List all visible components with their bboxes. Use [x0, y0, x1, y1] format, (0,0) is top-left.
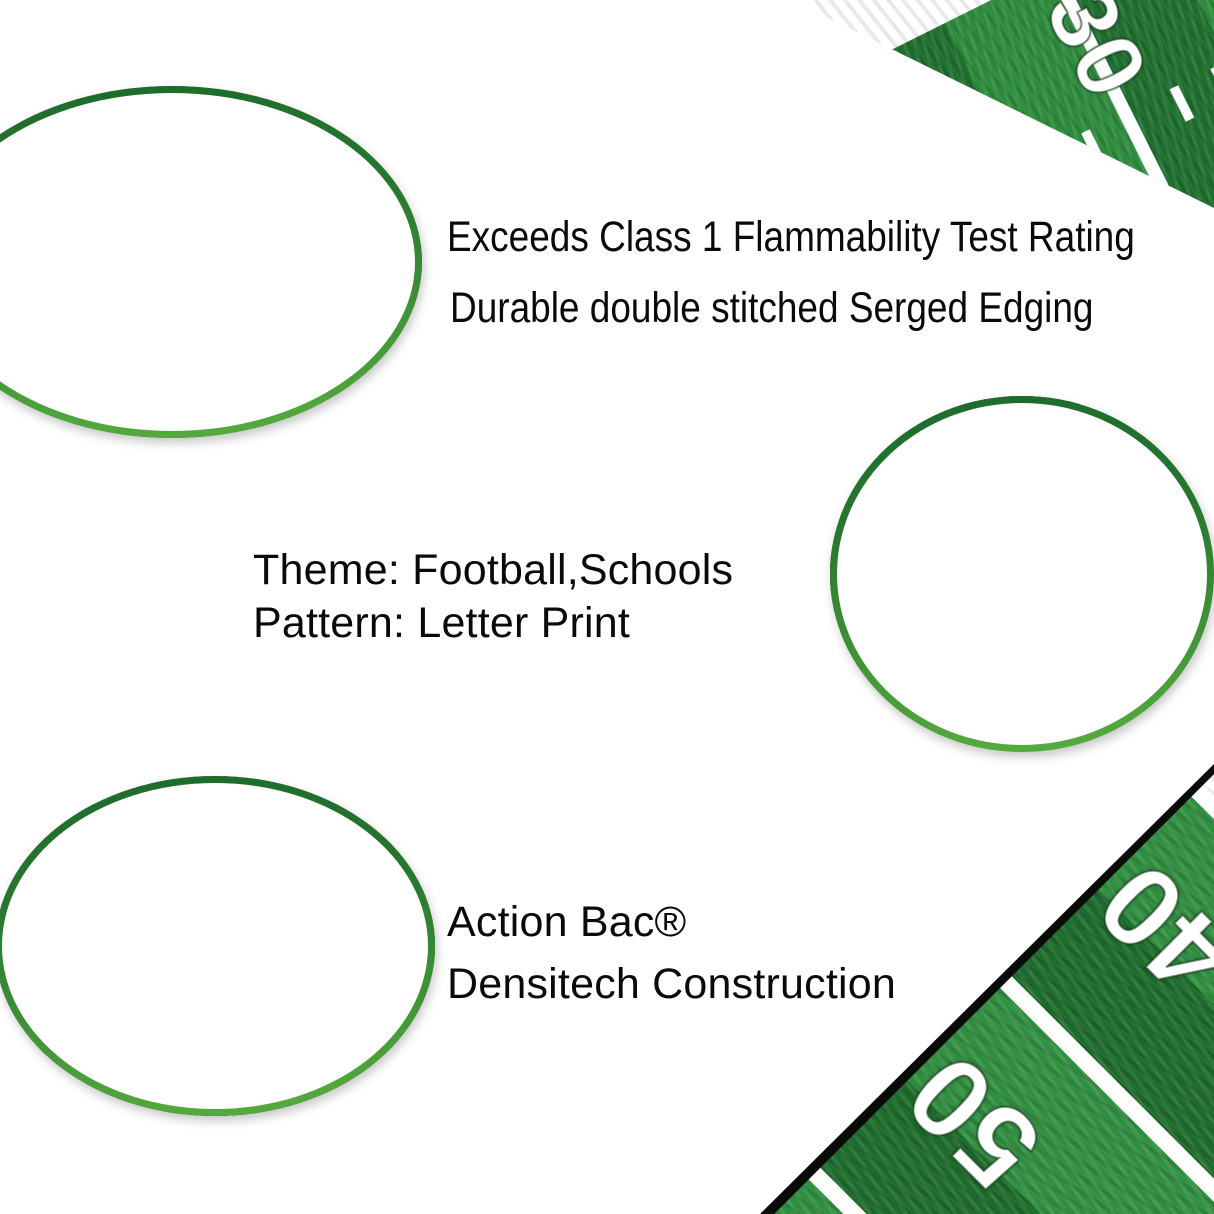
feature-text-action-bac: Action Bac®: [447, 901, 686, 944]
fire-test-block: Fire Test Report provided by Testing Ser…: [83, 856, 284, 917]
test-column: Test Method: ASTM E648 Standard Test Met…: [85, 884, 205, 916]
fire-test-table-body: Test Method: ASTM E648 Standard Test Met…: [85, 883, 284, 917]
feature-text-densitech: Densitech Construction: [447, 963, 896, 1006]
yard-number: 30: [1024, 0, 1171, 116]
yard-number: 30: [0, 142, 10, 202]
yard-number: 50: [94, 142, 154, 202]
tagline-bold-1: BOLD: [142, 829, 163, 837]
yard-number: 40: [22, 142, 82, 202]
yard-number: 50: [744, 179, 749, 210]
endzone-text: TOWN: [1022, 396, 1073, 626]
rug-black-edge: 20 10 TOWN: [830, 396, 1080, 670]
label-footer: www.KidCarpet.com © Kid Carpet.com All r…: [85, 939, 285, 956]
photo-rug-backing-label: kid CARPET BOLD and IMAGINATIVE carpets …: [0, 776, 435, 1116]
label-tagline: BOLD and IMAGINATIVE carpets your KIDS w…: [130, 827, 277, 850]
tagline-bold-2: IMAGINATIVE: [176, 828, 227, 837]
field-turf: 50 40 30: [744, 0, 1214, 210]
rug-face: 20 10 TOWN: [830, 396, 1073, 663]
copyright-notice: © Kid Carpet.com All rights reserved.: [182, 945, 265, 953]
tagline-end-1: carpets your: [227, 827, 264, 836]
kid-carpet-logo: kid CARPET: [89, 826, 126, 854]
tagline-bold-3: KIDS: [164, 839, 182, 847]
care-label: kid CARPET BOLD and IMAGINATIVE carpets …: [77, 814, 290, 972]
photo-football-field-closeup: 30 40 50 40 30: [0, 86, 422, 438]
website-url: www.KidCarpet.com: [91, 943, 172, 955]
yard-number: 40: [166, 142, 226, 202]
field-turf: 30 40 50 40 30: [0, 86, 422, 438]
logo-subtext: CARPET: [96, 843, 117, 848]
label-header: kid CARPET BOLD and IMAGINATIVE carpets …: [83, 819, 284, 858]
tagline-mid-1: and: [162, 829, 176, 837]
yard-number: 40: [1070, 836, 1214, 1024]
yard-number: 10: [846, 506, 894, 554]
infographic-canvas: 50 40 30: [0, 0, 1214, 1214]
field-corner-top-right: 50 40 30: [744, 0, 1214, 210]
logo-wordmark: kid: [99, 832, 115, 843]
result-line-3: Coefficient of Variation: 4.22%: [207, 901, 281, 907]
results-column: Meets or exceeds Class 1 rating Average …: [205, 883, 284, 914]
feature-text-serged-edging: Durable double stitched Serged Edging: [450, 287, 1093, 330]
feature-text-flammability: Exceeds Class 1 Flammability Test Rating: [447, 216, 1135, 259]
yard-number: 40: [813, 74, 960, 210]
feature-text-theme: Theme: Football,Schools: [253, 549, 733, 592]
photo-rug-corner-endzone: 20 10 TOWN: [830, 396, 1214, 752]
yard-number: 50: [879, 1027, 1067, 1214]
tagline-end-2: will enjoy for years!: [182, 837, 242, 846]
yard-number: 30: [238, 142, 298, 202]
feature-text-pattern: Pattern: Letter Print: [253, 602, 630, 645]
